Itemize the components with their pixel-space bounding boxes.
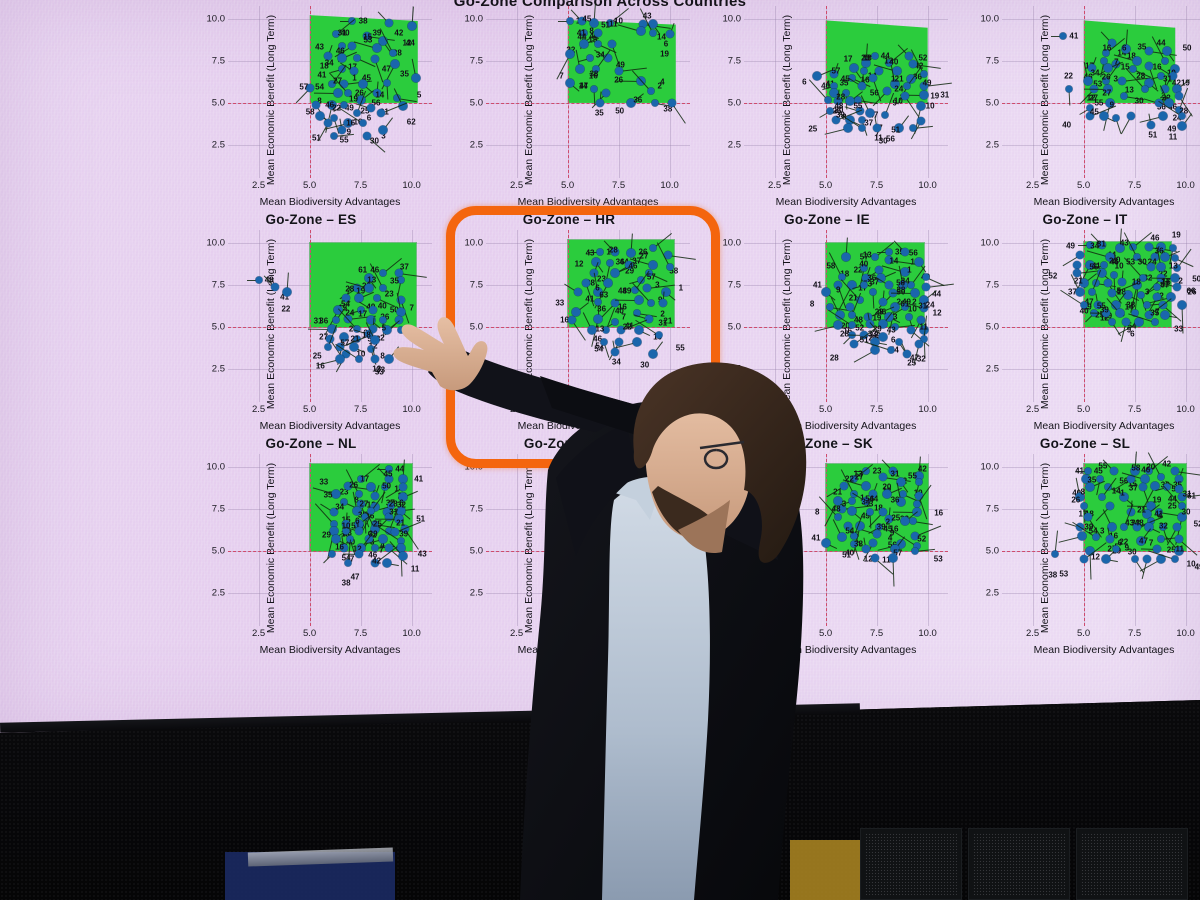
data-point bbox=[369, 306, 377, 314]
data-point bbox=[1154, 283, 1161, 290]
panel-title-it: Go-Zone – IT bbox=[956, 212, 1200, 227]
y-tick-label: 10.0 bbox=[723, 238, 742, 249]
data-point bbox=[587, 54, 594, 61]
point-label: 8 bbox=[1081, 488, 1085, 497]
data-point bbox=[611, 348, 619, 356]
leader-line bbox=[892, 558, 894, 586]
y-tick-label: 10.0 bbox=[207, 462, 226, 473]
y-tick-label: 2.5 bbox=[470, 587, 483, 598]
data-point bbox=[901, 516, 910, 525]
data-point bbox=[821, 538, 830, 547]
data-point bbox=[861, 68, 868, 75]
data-point bbox=[862, 481, 871, 490]
y-tick-label: 10.0 bbox=[465, 14, 484, 25]
x-axis-label-it: Mean Biodiversity Advantages bbox=[1002, 420, 1200, 432]
data-point bbox=[656, 332, 663, 339]
point-label: 31 bbox=[658, 318, 667, 327]
point-label: 36 bbox=[633, 96, 642, 105]
panel-hr: Go-Zone – HRMean Economic Benefit (Long … bbox=[440, 212, 698, 436]
point-label: 19 bbox=[356, 287, 365, 296]
point-label: 19 bbox=[349, 95, 358, 104]
panel-ch: Go-Zone – CHMean Economic Benefit (Long … bbox=[698, 0, 956, 212]
point-label: 61 bbox=[900, 299, 909, 308]
point-label: 25 bbox=[808, 124, 817, 133]
data-point bbox=[885, 281, 893, 289]
point-label: 58 bbox=[306, 107, 315, 116]
y-tick-label: 2.5 bbox=[986, 587, 999, 598]
point-label: 12 bbox=[575, 259, 584, 268]
data-point bbox=[1141, 86, 1148, 93]
data-point bbox=[596, 99, 604, 107]
x-axis-label-pt: Mean Biodiversity Advantages bbox=[486, 644, 690, 656]
point-label: 13 bbox=[367, 275, 376, 284]
panel-ie: Go-Zone – IEMean Economic Benefit (Long … bbox=[698, 212, 956, 436]
data-point bbox=[385, 19, 393, 27]
data-point bbox=[850, 340, 858, 348]
plot-area-nl: 2.55.07.510.02.55.07.510.044142223331745… bbox=[228, 454, 432, 626]
data-point bbox=[879, 473, 887, 481]
point-label: 48 bbox=[832, 504, 841, 513]
point-label: 14 bbox=[375, 91, 384, 100]
rack-cabinet-2 bbox=[968, 828, 1070, 900]
point-label: 17 bbox=[1161, 277, 1170, 286]
x-axis-label-ch: Mean Biodiversity Advantages bbox=[744, 196, 948, 208]
x-tick-label: 10.0 bbox=[1176, 628, 1195, 639]
y-tick-label: 5.0 bbox=[470, 97, 483, 108]
point-label: 39 bbox=[369, 529, 378, 538]
data-point bbox=[1172, 556, 1179, 563]
point-label: 1 bbox=[907, 265, 911, 274]
x-tick-label: 7.5 bbox=[1128, 180, 1141, 191]
point-label: 13 bbox=[863, 250, 872, 259]
data-point bbox=[379, 535, 388, 544]
point-label: 25 bbox=[313, 351, 322, 360]
data-point bbox=[648, 88, 655, 95]
point-label: 38 bbox=[1048, 570, 1057, 579]
x-tick-label: 2.5 bbox=[252, 404, 265, 415]
data-point bbox=[602, 89, 610, 97]
point-label: 45 bbox=[582, 15, 591, 24]
x-tick-label: 10.0 bbox=[660, 404, 679, 415]
y-tick-label: 2.5 bbox=[212, 139, 225, 150]
x-tick-label: 2.5 bbox=[252, 180, 265, 191]
point-label: 40 bbox=[378, 302, 387, 311]
point-label: 22 bbox=[845, 475, 854, 484]
data-point bbox=[869, 74, 877, 82]
point-label: 12 bbox=[1091, 553, 1100, 562]
point-label: 35 bbox=[390, 276, 399, 285]
point-label: 55 bbox=[853, 102, 862, 111]
point-label: 31 bbox=[918, 302, 927, 311]
point-label: 48 bbox=[1135, 519, 1144, 528]
point-label: 40 bbox=[859, 259, 868, 268]
data-point bbox=[632, 337, 641, 346]
point-label: 28 bbox=[830, 354, 839, 363]
data-point bbox=[920, 71, 927, 78]
point-label: 5 bbox=[417, 90, 421, 99]
point-label: 41 bbox=[813, 281, 822, 290]
point-label: 40 bbox=[341, 28, 350, 37]
point-label: 2 bbox=[380, 333, 384, 342]
point-label: 41 bbox=[317, 71, 326, 80]
data-point bbox=[255, 277, 262, 284]
data-point bbox=[659, 299, 667, 307]
data-point bbox=[355, 550, 363, 558]
point-label: 46 bbox=[629, 262, 638, 271]
data-point bbox=[1113, 114, 1120, 121]
point-label: 22 bbox=[623, 322, 632, 331]
data-point bbox=[862, 545, 870, 553]
data-point bbox=[384, 79, 391, 86]
threshold-line-vertical-ch bbox=[826, 6, 827, 178]
point-label: 55 bbox=[340, 135, 349, 144]
point-label: 41 bbox=[1069, 32, 1078, 41]
y-tick-label: 5.0 bbox=[212, 545, 225, 556]
data-point bbox=[844, 123, 853, 132]
point-label: 52 bbox=[1194, 519, 1200, 528]
point-label: 36 bbox=[616, 258, 625, 267]
plot-area-pt: 2.55.07.510.02.55.07.510.034 bbox=[486, 454, 690, 626]
data-point bbox=[399, 483, 407, 491]
point-label: 21 bbox=[1137, 505, 1146, 514]
point-label: 41 bbox=[812, 534, 821, 543]
data-point bbox=[1075, 287, 1084, 296]
y-tick-label: 7.5 bbox=[986, 56, 999, 67]
y-tick-label: 10.0 bbox=[981, 462, 1000, 473]
point-label: 19 bbox=[1172, 230, 1181, 239]
point-label: 37 bbox=[400, 262, 409, 271]
point-label: 34 bbox=[657, 546, 666, 555]
data-point bbox=[1066, 86, 1073, 93]
x-axis-label-sk: Mean Biodiversity Advantages bbox=[744, 644, 948, 656]
point-label: 53 bbox=[1059, 569, 1068, 578]
point-label: 34 bbox=[325, 59, 334, 68]
y-tick-label: 10.0 bbox=[465, 462, 484, 473]
point-label: 28 bbox=[609, 245, 618, 254]
data-point bbox=[848, 506, 857, 515]
data-point bbox=[1101, 262, 1108, 269]
data-point bbox=[1116, 309, 1125, 318]
x-tick-label: 10.0 bbox=[660, 180, 679, 191]
point-label: 47 bbox=[579, 82, 588, 91]
point-label: 55 bbox=[676, 344, 685, 353]
point-label: 27 bbox=[640, 252, 649, 261]
x-tick-label: 7.5 bbox=[612, 404, 625, 415]
x-tick-label: 5.0 bbox=[1077, 180, 1090, 191]
point-label: 10 bbox=[342, 522, 351, 531]
data-point bbox=[861, 282, 868, 289]
x-tick-label: 7.5 bbox=[354, 404, 367, 415]
data-point bbox=[1121, 93, 1128, 100]
point-label: 17 bbox=[360, 474, 369, 483]
data-point bbox=[1088, 288, 1095, 295]
data-point bbox=[338, 126, 346, 134]
point-label: 16 bbox=[589, 71, 598, 80]
point-label: 26 bbox=[349, 480, 358, 489]
data-point bbox=[901, 92, 909, 100]
threshold-line-vertical-bg bbox=[568, 6, 569, 178]
point-label: 14 bbox=[889, 257, 898, 266]
x-tick-label: 7.5 bbox=[870, 404, 883, 415]
data-point bbox=[1158, 474, 1165, 481]
data-point bbox=[649, 261, 658, 270]
point-label: 30 bbox=[1182, 508, 1191, 517]
y-tick-label: 5.0 bbox=[728, 545, 741, 556]
point-label: 11 bbox=[609, 19, 617, 28]
point-label: 6 bbox=[1122, 43, 1126, 52]
data-point bbox=[566, 18, 573, 25]
y-tick-label: 5.0 bbox=[728, 321, 741, 332]
data-point bbox=[871, 253, 878, 260]
point-label: 43 bbox=[887, 326, 896, 335]
point-label: 25 bbox=[891, 514, 900, 523]
point-label: 11 bbox=[874, 134, 882, 143]
point-label: 11 bbox=[1169, 133, 1177, 142]
data-point bbox=[635, 296, 644, 305]
point-label: 33 bbox=[1174, 325, 1183, 334]
panel-title-de: Go-Zone – DE bbox=[956, 0, 1200, 3]
data-point bbox=[1175, 535, 1183, 543]
point-label: 55 bbox=[908, 472, 917, 481]
data-point bbox=[377, 109, 385, 117]
data-point bbox=[1084, 513, 1092, 521]
point-label: 12 bbox=[402, 39, 411, 48]
y-tick-label: 2.5 bbox=[986, 363, 999, 374]
data-point bbox=[324, 343, 331, 350]
plot-area-sl: 2.55.07.510.02.55.07.510.045563715204155… bbox=[1002, 454, 1200, 626]
point-label: 22 bbox=[281, 304, 290, 313]
point-label: 30 bbox=[640, 360, 649, 369]
data-point bbox=[371, 55, 379, 63]
data-point bbox=[383, 558, 392, 567]
point-label: 34 bbox=[1091, 69, 1100, 78]
data-point bbox=[411, 73, 420, 82]
point-label: 41 bbox=[414, 474, 423, 483]
data-point bbox=[385, 354, 394, 363]
point-label: 51 bbox=[601, 20, 610, 29]
point-label: 30 bbox=[1138, 257, 1147, 266]
point-label: 50 bbox=[1183, 44, 1192, 53]
gridline-vertical bbox=[259, 230, 260, 402]
data-point bbox=[355, 355, 362, 362]
data-point bbox=[334, 88, 343, 97]
point-label: 31 bbox=[940, 90, 949, 99]
point-label: 17 bbox=[844, 55, 853, 64]
point-label: 57 bbox=[299, 83, 308, 92]
point-label: 6 bbox=[367, 113, 371, 122]
data-point bbox=[915, 340, 923, 348]
y-tick-label: 5.0 bbox=[986, 97, 999, 108]
data-point bbox=[1104, 63, 1113, 72]
gridline-vertical bbox=[1033, 6, 1034, 178]
panel-title-sk: Go-Zone – SK bbox=[698, 436, 956, 451]
panel-title-es: Go-Zone – ES bbox=[182, 212, 440, 227]
point-label: 42 bbox=[372, 556, 381, 565]
data-point bbox=[565, 78, 574, 87]
data-point bbox=[1143, 555, 1151, 563]
data-point bbox=[919, 90, 928, 99]
data-point bbox=[1177, 301, 1186, 310]
data-point bbox=[859, 124, 866, 131]
x-tick-label: 5.0 bbox=[303, 180, 316, 191]
point-label: 27 bbox=[1102, 89, 1111, 98]
data-point bbox=[391, 60, 400, 69]
data-point bbox=[649, 349, 658, 358]
data-point bbox=[915, 257, 924, 266]
point-label: 9 bbox=[836, 285, 840, 294]
data-point bbox=[637, 27, 646, 36]
point-label: 9 bbox=[890, 529, 894, 538]
data-point bbox=[871, 53, 878, 60]
panel-sk: Go-Zone – SKMean Economic Benefit (Long … bbox=[698, 436, 956, 660]
point-label: 46 bbox=[1141, 466, 1150, 475]
point-label: 25 bbox=[1168, 502, 1177, 511]
data-point bbox=[1084, 467, 1091, 474]
point-label: 42 bbox=[1162, 460, 1171, 469]
x-tick-label: 2.5 bbox=[252, 628, 265, 639]
point-label: 54 bbox=[315, 83, 324, 92]
data-point bbox=[900, 491, 907, 498]
data-point bbox=[591, 86, 598, 93]
point-label: 20 bbox=[882, 483, 891, 492]
data-point bbox=[1106, 502, 1114, 510]
point-label: 31 bbox=[1097, 239, 1106, 248]
x-tick-label: 10.0 bbox=[918, 180, 937, 191]
data-point bbox=[399, 551, 408, 560]
y-tick-label: 5.0 bbox=[986, 321, 999, 332]
data-point bbox=[903, 350, 911, 358]
data-point bbox=[917, 117, 925, 125]
data-point bbox=[565, 50, 574, 59]
y-tick-label: 7.5 bbox=[470, 56, 483, 67]
y-tick-label: 2.5 bbox=[212, 587, 225, 598]
point-label: 47 bbox=[351, 573, 360, 582]
point-label: 58 bbox=[826, 261, 835, 270]
point-label: 11 bbox=[1176, 545, 1184, 554]
point-label: 56 bbox=[870, 89, 879, 98]
plot-area-hr: 2.55.07.510.02.55.07.510.015442937264328… bbox=[486, 230, 690, 402]
data-point bbox=[650, 29, 657, 36]
data-point bbox=[870, 346, 879, 355]
panel-title-ch: Go-Zone – CH bbox=[698, 0, 956, 3]
data-point bbox=[355, 527, 363, 535]
x-axis-label-at: Mean Biodiversity Advantages bbox=[228, 196, 432, 208]
x-tick-label: 7.5 bbox=[354, 628, 367, 639]
data-point bbox=[1161, 311, 1170, 320]
x-axis-label-hr: Mean Biodiversity Advantages bbox=[486, 420, 690, 432]
gridline-vertical bbox=[259, 454, 260, 626]
point-label: 17 bbox=[358, 309, 367, 318]
data-point bbox=[371, 492, 379, 500]
point-label: 2 bbox=[886, 518, 890, 527]
gridline-vertical bbox=[517, 6, 518, 178]
data-point bbox=[1080, 502, 1087, 509]
point-label: 24 bbox=[345, 309, 354, 318]
point-label: 27 bbox=[359, 499, 368, 508]
point-label: 41 bbox=[1154, 510, 1163, 519]
point-label: 3 bbox=[1100, 526, 1104, 535]
point-label: 28 bbox=[1136, 72, 1145, 81]
data-point bbox=[858, 82, 866, 90]
data-point bbox=[1139, 483, 1147, 491]
point-label: 29 bbox=[322, 530, 331, 539]
point-label: 1 bbox=[679, 284, 683, 293]
point-label: 55 bbox=[1098, 461, 1107, 470]
y-tick-label: 5.0 bbox=[212, 321, 225, 332]
data-point bbox=[1100, 112, 1109, 121]
data-point bbox=[883, 87, 891, 95]
data-point bbox=[594, 314, 603, 323]
point-label: 9 bbox=[1125, 543, 1129, 552]
y-tick-label: 2.5 bbox=[470, 139, 483, 150]
threshold-line-vertical-ie bbox=[826, 230, 827, 402]
data-point bbox=[1110, 467, 1118, 475]
point-label: 9 bbox=[892, 98, 896, 107]
y-tick-label: 7.5 bbox=[212, 56, 225, 67]
data-point bbox=[1080, 555, 1088, 563]
data-point bbox=[315, 112, 324, 121]
data-point bbox=[359, 119, 366, 126]
data-point bbox=[871, 554, 879, 562]
data-point bbox=[615, 67, 623, 75]
point-label: 33 bbox=[376, 365, 385, 374]
data-point bbox=[1098, 494, 1105, 501]
data-point bbox=[850, 63, 859, 72]
data-point bbox=[333, 317, 340, 324]
point-label: 38 bbox=[1126, 301, 1135, 310]
x-tick-label: 5.0 bbox=[561, 404, 574, 415]
rack-cabinet-1 bbox=[860, 828, 962, 900]
x-tick-label: 5.0 bbox=[1077, 404, 1090, 415]
point-label: 8 bbox=[815, 508, 819, 517]
data-point bbox=[643, 284, 651, 292]
data-point bbox=[341, 101, 348, 108]
x-tick-label: 5.0 bbox=[819, 180, 832, 191]
y-tick-label: 10.0 bbox=[981, 238, 1000, 249]
data-point bbox=[1157, 262, 1166, 271]
data-point bbox=[1052, 551, 1059, 558]
data-point bbox=[1173, 523, 1181, 531]
point-label: 35 bbox=[1137, 42, 1146, 51]
gridline-vertical bbox=[1033, 454, 1034, 626]
point-label: 31 bbox=[1183, 489, 1192, 498]
data-point bbox=[834, 514, 841, 521]
point-label: 51 bbox=[1148, 130, 1157, 139]
x-tick-label: 5.0 bbox=[561, 180, 574, 191]
y-tick-label: 5.0 bbox=[470, 321, 483, 332]
screenshot-stage: Go-Zone Comparison Across Countries Go-Z… bbox=[0, 0, 1200, 900]
data-point bbox=[331, 133, 338, 140]
point-label: 16 bbox=[1102, 43, 1111, 52]
data-point bbox=[1118, 77, 1126, 85]
point-label: 3 bbox=[842, 500, 846, 509]
data-point bbox=[914, 501, 921, 508]
point-label: 11 bbox=[919, 322, 927, 331]
point-label: 33 bbox=[319, 478, 328, 487]
data-point bbox=[833, 321, 842, 330]
point-label: 41 bbox=[577, 29, 586, 38]
x-tick-label: 2.5 bbox=[768, 180, 781, 191]
panel-es: Go-Zone – ESMean Economic Benefit (Long … bbox=[182, 212, 440, 436]
plot-area-at: 2.55.07.510.02.55.07.510.038424443313940… bbox=[228, 6, 432, 178]
point-label: 7 bbox=[1155, 307, 1159, 316]
data-point bbox=[1131, 556, 1138, 563]
y-tick-label: 7.5 bbox=[986, 280, 999, 291]
data-point bbox=[666, 263, 673, 270]
data-point bbox=[1171, 467, 1179, 475]
point-label: 47 bbox=[1139, 536, 1148, 545]
point-label: 35 bbox=[595, 109, 604, 118]
